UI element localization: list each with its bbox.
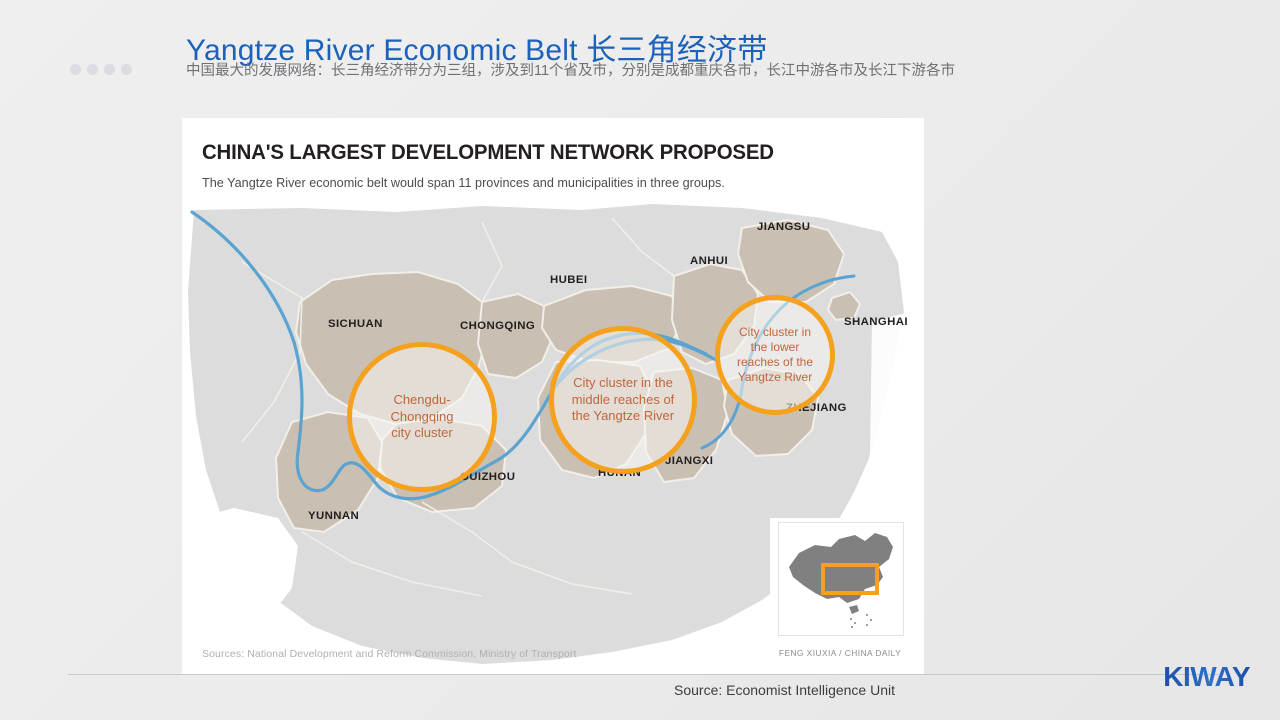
figure-sources: Sources: National Development and Reform… — [202, 648, 576, 660]
inset-locator-map: FENG XIUXIA / CHINA DAILY — [770, 518, 910, 666]
cluster-line: City cluster in — [739, 325, 811, 339]
province-label-shanghai: SHANGHAI — [844, 316, 908, 328]
province-label-anhui: ANHUI — [690, 255, 728, 267]
cluster-line: Chengdu- — [393, 392, 450, 407]
figure-header: CHINA'S LARGEST DEVELOPMENT NETWORK PROP… — [182, 118, 924, 190]
province-label-yunnan: YUNNAN — [308, 510, 359, 522]
cluster-line: Yangtze River — [738, 370, 812, 384]
cluster-line: Chongqing — [391, 409, 454, 424]
cluster-label-middle-reaches: City cluster in the middle reaches of th… — [562, 375, 685, 425]
figure-credit: FENG XIUXIA / CHINA DAILY — [770, 648, 910, 658]
decorative-dots — [70, 64, 132, 75]
cluster-circle-lower-reaches[interactable]: City cluster in the lower reaches of the… — [715, 295, 835, 415]
hainan-island — [849, 605, 859, 614]
map-graphic: SICHUAN CHONGQING HUBEI ANHUI JIANGSU SH… — [182, 202, 924, 674]
cluster-line: middle reaches of — [572, 392, 675, 407]
province-label-chongqing: CHONGQING — [460, 320, 535, 332]
province-label-jiangsu: JIANGSU — [757, 221, 810, 233]
cluster-line: the lower — [751, 340, 800, 354]
dot-icon — [87, 64, 98, 75]
cluster-label-chengdu-chongqing: Chengdu- Chongqing city cluster — [381, 392, 464, 442]
dot-icon — [70, 64, 81, 75]
figure-deck: The Yangtze River economic belt would sp… — [202, 175, 876, 190]
province-label-jiangxi: JIANGXI — [665, 455, 713, 467]
dot-icon — [121, 64, 132, 75]
inset-frame — [778, 522, 904, 636]
dot-icon — [104, 64, 115, 75]
province-label-sichuan: SICHUAN — [328, 318, 383, 330]
cluster-circle-chengdu-chongqing[interactable]: Chengdu- Chongqing city cluster — [347, 342, 497, 492]
page-subtitle: 中国最大的发展网络：长三角经济带分为三组，涉及到11个省及市，分别是成都重庆各市… — [186, 62, 1066, 81]
figure-headline: CHINA'S LARGEST DEVELOPMENT NETWORK PROP… — [202, 140, 869, 165]
cluster-label-lower-reaches: City cluster in the lower reaches of the… — [727, 325, 823, 385]
cluster-circle-middle-reaches[interactable]: City cluster in the middle reaches of th… — [549, 326, 697, 474]
cluster-line: reaches of the — [737, 355, 813, 369]
slide-root: Yangtze River Economic Belt 长三角经济带 中国最大的… — [0, 0, 1280, 720]
cluster-line: city cluster — [391, 425, 452, 440]
cluster-line: the Yangtze River — [572, 408, 674, 423]
south-sea-dots — [850, 614, 872, 628]
source-note: Source: Economist Intelligence Unit — [674, 682, 895, 698]
figure-card: CHINA'S LARGEST DEVELOPMENT NETWORK PROP… — [182, 118, 924, 674]
footer-divider — [68, 674, 1218, 675]
china-outline-svg — [779, 523, 903, 635]
kiway-logo: KIWAY — [1163, 661, 1250, 693]
cluster-line: City cluster in the — [573, 375, 673, 390]
province-label-hubei: HUBEI — [550, 274, 587, 286]
map-white-cutout — [182, 508, 298, 662]
